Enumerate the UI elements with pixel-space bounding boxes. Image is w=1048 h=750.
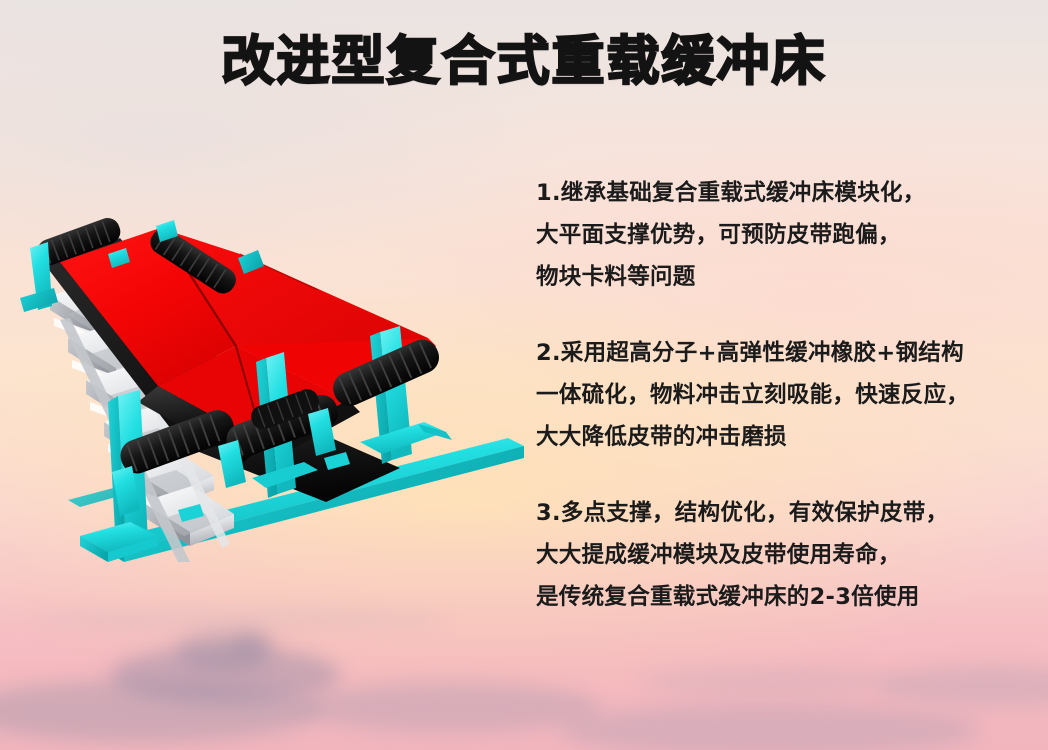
feature-list: 1.继承基础复合重载式缓冲床模块化， 大平面支撑优势，可预防皮带跑偏， 物块卡料… xyxy=(536,172,1006,618)
feature-2-line-3: 大大降低皮带的冲击磨损 xyxy=(536,416,1006,458)
product-3d-render xyxy=(8,210,548,600)
cloud-shape xyxy=(30,608,450,630)
feature-3-line-3: 是传统复合重载式缓冲床的2-3倍使用 xyxy=(536,576,1006,618)
cloud-shape xyxy=(640,668,900,694)
feature-2-line-1: 2.采用超高分子+高弹性缓冲橡胶+钢结构 xyxy=(536,332,1006,374)
feature-item-2: 2.采用超高分子+高弹性缓冲橡胶+钢结构 一体硫化，物料冲击立刻吸能，快速反应，… xyxy=(536,332,1006,458)
feature-3-line-2: 大大提成缓冲模块及皮带使用寿命， xyxy=(536,534,1006,576)
cloud-shape xyxy=(232,630,272,658)
feature-1-line-1: 1.继承基础复合重载式缓冲床模块化， xyxy=(536,172,1006,214)
cloud-shape xyxy=(560,704,980,750)
poster-canvas: 改进型复合式重载缓冲床 xyxy=(0,0,1048,750)
feature-2-line-2: 一体硫化，物料冲击立刻吸能，快速反应， xyxy=(536,374,1006,416)
feature-1-line-3: 物块卡料等问题 xyxy=(536,256,1006,298)
feature-item-3: 3.多点支撑，结构优化，有效保护皮带， 大大提成缓冲模块及皮带使用寿命， 是传统… xyxy=(536,492,1006,618)
feature-3-line-1: 3.多点支撑，结构优化，有效保护皮带， xyxy=(536,492,1006,534)
page-title: 改进型复合式重载缓冲床 xyxy=(0,30,1048,94)
cloud-shape xyxy=(300,682,600,732)
feature-1-line-2: 大平面支撑优势，可预防皮带跑偏， xyxy=(536,214,1006,256)
feature-item-1: 1.继承基础复合重载式缓冲床模块化， 大平面支撑优势，可预防皮带跑偏， 物块卡料… xyxy=(536,172,1006,298)
